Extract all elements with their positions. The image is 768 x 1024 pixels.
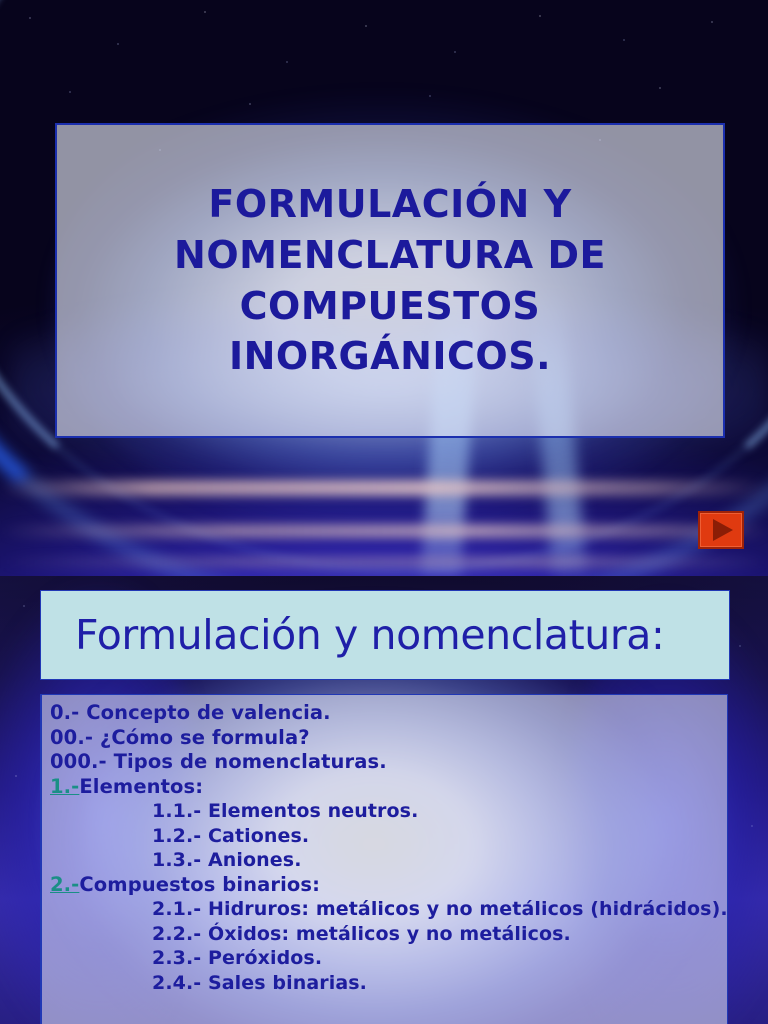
toc-item-number: 1.3.- bbox=[152, 849, 201, 871]
toc-item: 2.3.- Peróxidos. bbox=[42, 946, 727, 971]
toc-item-number: 1.2.- bbox=[152, 825, 201, 847]
toc-item: 00.- ¿Cómo se formula? bbox=[42, 726, 727, 751]
toc-item: 2.2.- Óxidos: metálicos y no metálicos. bbox=[42, 922, 727, 947]
page-title: FORMULACIÓN Y NOMENCLATURA DE COMPUESTOS… bbox=[174, 179, 606, 381]
toc-item-number: 00.- bbox=[50, 726, 93, 749]
toc-item: 2.4.- Sales binarias. bbox=[42, 971, 727, 996]
toc-item-number: 2.1.- bbox=[152, 898, 201, 920]
toc-item-number: 000.- bbox=[50, 750, 107, 773]
section-header-title: Formulación y nomenclatura: bbox=[75, 615, 664, 656]
toc-item-number: 1.1.- bbox=[152, 800, 201, 822]
table-of-contents: 0.- Concepto de valencia.00.- ¿Cómo se f… bbox=[40, 694, 728, 1024]
toc-item: 2.1.- Hidruros: metálicos y no metálicos… bbox=[42, 897, 727, 922]
toc-item-label: Elementos: bbox=[79, 775, 203, 798]
toc-item-number: 2.3.- bbox=[152, 947, 201, 969]
toc-item-label: Cationes. bbox=[201, 825, 309, 847]
toc-item-label: Tipos de nomenclaturas. bbox=[107, 750, 387, 773]
toc-item: 1.-Elementos: bbox=[42, 775, 727, 800]
toc-item-number: 0.- bbox=[50, 701, 79, 724]
toc-item: 1.3.- Aniones. bbox=[42, 848, 727, 873]
title-slide: FORMULACIÓN Y NOMENCLATURA DE COMPUESTOS… bbox=[0, 0, 768, 576]
toc-item-label: ¿Cómo se formula? bbox=[93, 726, 310, 749]
presentation-page: FORMULACIÓN Y NOMENCLATURA DE COMPUESTOS… bbox=[0, 0, 768, 1024]
toc-item: 2.-Compuestos binarios: bbox=[42, 873, 727, 898]
toc-item-label: Hidruros: metálicos y no metálicos (hidr… bbox=[201, 898, 727, 920]
toc-item-label: Concepto de valencia. bbox=[79, 701, 330, 724]
toc-item-label: Óxidos: metálicos y no metálicos. bbox=[201, 923, 571, 945]
toc-item-label: Aniones. bbox=[201, 849, 301, 871]
play-triangle-icon bbox=[713, 519, 733, 541]
toc-item-number: 2.- bbox=[50, 873, 79, 896]
toc-item-label: Elementos neutros. bbox=[201, 800, 418, 822]
toc-item: 000.- Tipos de nomenclaturas. bbox=[42, 750, 727, 775]
toc-item-label: Peróxidos. bbox=[201, 947, 322, 969]
toc-item: 1.2.- Cationes. bbox=[42, 824, 727, 849]
toc-item-label: Compuestos binarios: bbox=[79, 873, 320, 896]
toc-item-number: 1.- bbox=[50, 775, 79, 798]
play-next-button[interactable] bbox=[698, 511, 744, 549]
title-textbox: FORMULACIÓN Y NOMENCLATURA DE COMPUESTOS… bbox=[55, 123, 725, 438]
toc-item-label: Sales binarias. bbox=[201, 972, 367, 994]
toc-item: 0.- Concepto de valencia. bbox=[42, 701, 727, 726]
toc-item-number: 2.2.- bbox=[152, 923, 201, 945]
toc-item-number: 2.4.- bbox=[152, 972, 201, 994]
section-header-box: Formulación y nomenclatura: bbox=[40, 590, 730, 680]
toc-item: 1.1.- Elementos neutros. bbox=[42, 799, 727, 824]
